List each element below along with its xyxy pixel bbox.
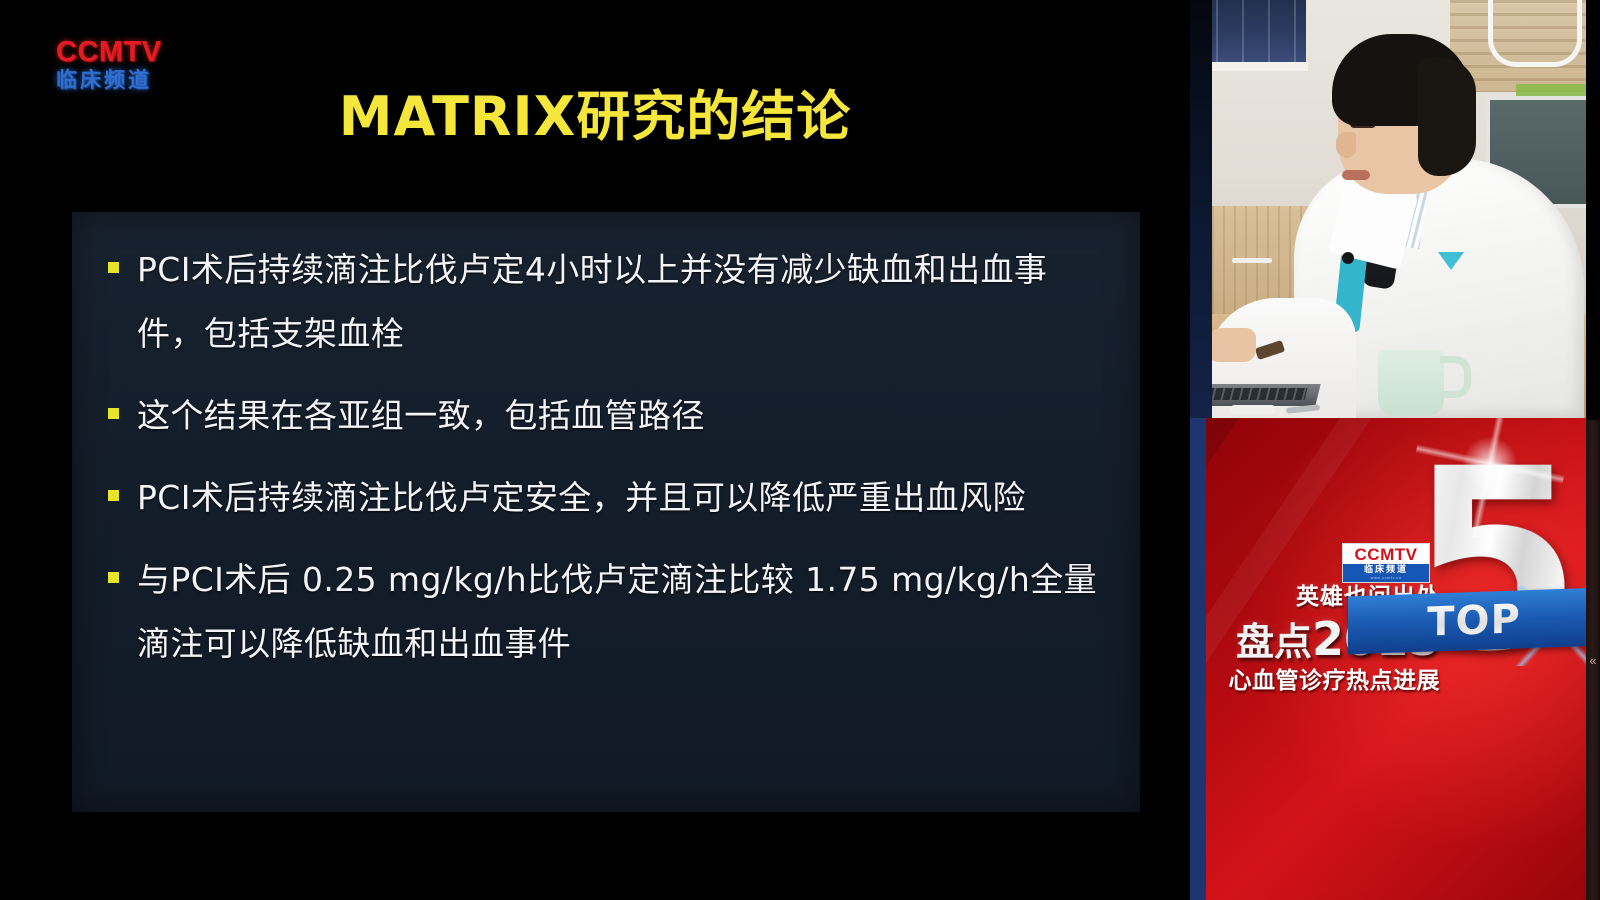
ccmtv-brand-text: CCMTV xyxy=(56,38,206,67)
conclusion-bullet-list: PCI术后持续滴注比伐卢定4小时以上并没有减少缺血和出血事件，包括支架血栓 这个… xyxy=(72,238,1140,676)
program-promo-panel: 5 CCMTV 临床频道 www.ccmtv.cn 英雄也问出处 盘点2015 … xyxy=(1190,418,1600,900)
bullet-text: 与PCI术后 0.25 mg/kg/h比伐卢定滴注比较 1.75 mg/kg/h… xyxy=(137,548,1106,676)
right-sidebar: 5 CCMTV 临床频道 www.ccmtv.cn 英雄也问出处 盘点2015 … xyxy=(1190,0,1600,900)
video-speaker-mouth xyxy=(1342,170,1370,180)
top-rank-label: TOP xyxy=(1348,594,1600,649)
square-bullet-icon xyxy=(108,490,119,501)
video-speaker-hair-back xyxy=(1418,58,1476,176)
list-item: 这个结果在各亚组一致，包括血管路径 xyxy=(94,384,1106,448)
bullet-text: PCI术后持续滴注比伐卢定4小时以上并没有减少缺血和出血事件，包括支架血栓 xyxy=(137,238,1106,366)
square-bullet-icon xyxy=(108,572,119,583)
video-laptop-keyboard xyxy=(1205,388,1308,400)
collapse-sidebar-button[interactable]: « xyxy=(1586,420,1600,900)
speaker-video-feed[interactable] xyxy=(1190,0,1600,418)
bullet-text: PCI术后持续滴注比伐卢定安全，并且可以降低严重出血风险 xyxy=(137,466,1106,530)
video-mug-handle xyxy=(1440,356,1471,398)
square-bullet-icon xyxy=(108,262,119,273)
square-bullet-icon xyxy=(108,408,119,419)
chevron-left-icon: « xyxy=(1589,654,1596,667)
promo-subtitle: 心血管诊疗热点进展 xyxy=(1202,670,1440,693)
right-edge-filler xyxy=(1586,0,1600,420)
promo-logo-brand: CCMTV xyxy=(1343,546,1429,563)
list-item: PCI术后持续滴注比伐卢定4小时以上并没有减少缺血和出血事件，包括支架血栓 xyxy=(94,238,1106,366)
video-coffee-mug xyxy=(1378,350,1444,416)
broadcast-screen: CCMTV 临床频道 MATRIX研究的结论 PCI术后持续滴注比伐卢定4小时以… xyxy=(0,0,1600,900)
ccmtv-channel-text: 临床频道 xyxy=(56,70,206,91)
promo-ccmtv-logo: CCMTV 临床频道 www.ccmtv.cn xyxy=(1342,543,1430,583)
promo-logo-url: www.ccmtv.cn xyxy=(1343,576,1429,582)
presentation-slide: CCMTV 临床频道 MATRIX研究的结论 PCI术后持续滴注比伐卢定4小时以… xyxy=(0,0,1190,900)
promo-headline-prefix: 盘点 xyxy=(1236,620,1312,664)
list-item: 与PCI术后 0.25 mg/kg/h比伐卢定滴注比较 1.75 mg/kg/h… xyxy=(94,548,1106,676)
list-item: PCI术后持续滴注比伐卢定安全，并且可以降低严重出血风险 xyxy=(94,466,1106,530)
video-lapel-microphone xyxy=(1342,252,1354,264)
slide-content-panel: PCI术后持续滴注比伐卢定4小时以上并没有减少缺血和出血事件，包括支架血栓 这个… xyxy=(72,212,1140,812)
video-desk-pen xyxy=(1230,405,1276,414)
video-speaker-nose xyxy=(1336,132,1356,158)
video-drawer-handle xyxy=(1232,258,1272,263)
video-wall-hook xyxy=(1488,0,1582,67)
video-left-letterbox xyxy=(1190,0,1212,418)
bullet-text: 这个结果在各亚组一致，包括血管路径 xyxy=(137,384,1106,448)
ccmtv-watermark-logo: CCMTV 临床频道 xyxy=(56,38,206,91)
video-coat-badge xyxy=(1438,252,1464,270)
top-rank-banner: TOP xyxy=(1348,588,1600,655)
